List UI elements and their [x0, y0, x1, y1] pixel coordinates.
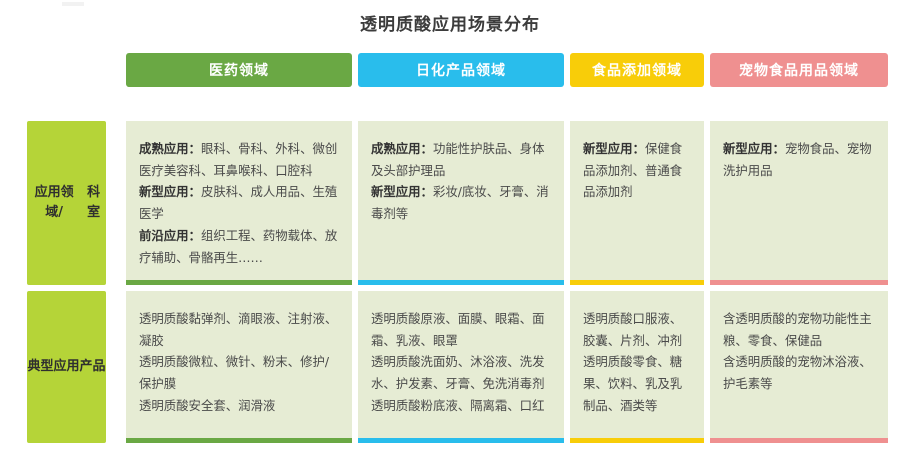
accent-bar-pet	[710, 438, 888, 443]
row-label-line: 应用领域/	[27, 183, 81, 223]
cell-line-label: 前沿应用：	[139, 228, 201, 243]
cell-line-text: 透明质酸原液、面膜、眼霜、面霜、乳液、眼罩	[371, 311, 544, 348]
accent-bar-food_additive	[570, 280, 704, 285]
cell-line: 透明质酸微粒、微针、粉末、修护/保护膜	[139, 351, 339, 394]
cell-line: 含透明质酸的宠物功能性主粮、零食、保健品	[723, 308, 875, 351]
category-header-row: 医药领域日化产品领域食品添加领域宠物食品用品领域	[126, 53, 888, 87]
cell-application_field-food_additive: 新型应用：保健食品添加剂、普通食品添加剂	[570, 121, 704, 285]
cell-line: 透明质酸黏弹剂、滴眼液、注射液、凝胶	[139, 308, 339, 351]
row-label-line: 科室	[81, 183, 106, 223]
column-header-pet[interactable]: 宠物食品用品领域	[710, 53, 888, 87]
cell-line: 透明质酸洗面奶、沐浴液、洗发水、护发素、牙膏、免洗消毒剂	[371, 351, 551, 394]
page-title: 透明质酸应用场景分布	[0, 10, 900, 35]
cell-line: 含透明质酸的宠物沐浴液、护毛素等	[723, 351, 875, 394]
cell-line-text: 透明质酸洗面奶、沐浴液、洗发水、护发素、牙膏、免洗消毒剂	[371, 354, 544, 391]
cell-line-label: 新型应用：	[583, 141, 645, 156]
cell-typical_products-daily_chemical: 透明质酸原液、面膜、眼霜、面霜、乳液、眼罩透明质酸洗面奶、沐浴液、洗发水、护发素…	[358, 291, 564, 443]
accent-bar-daily_chemical	[358, 280, 564, 285]
cell-line-text: 含透明质酸的宠物功能性主粮、零食、保健品	[723, 311, 872, 348]
cell-line: 新型应用：保健食品添加剂、普通食品添加剂	[583, 138, 691, 203]
column-header-daily_chemical[interactable]: 日化产品领域	[358, 53, 564, 87]
cell-application_field-medical: 成熟应用：眼科、骨科、外科、微创医疗美容科、耳鼻喉科、口腔科新型应用：皮肤科、成…	[126, 121, 352, 285]
cell-application_field-pet: 新型应用：宠物食品、宠物洗护用品	[710, 121, 888, 285]
cell-line: 新型应用：皮肤科、成人用品、生殖医学	[139, 181, 339, 224]
cell-application_field-daily_chemical: 成熟应用：功能性护肤品、身体及头部护理品新型应用：彩妆/底妆、牙膏、消毒剂等	[358, 121, 564, 285]
cell-line-label: 新型应用：	[371, 184, 433, 199]
corner-mark	[62, 2, 84, 6]
cell-line-text: 透明质酸安全套、润滑液	[139, 398, 275, 413]
column-header-food_additive[interactable]: 食品添加领域	[570, 53, 704, 87]
cell-line-label: 成熟应用：	[371, 141, 433, 156]
accent-bar-medical	[126, 280, 352, 285]
cell-typical_products-medical: 透明质酸黏弹剂、滴眼液、注射液、凝胶透明质酸微粒、微针、粉末、修护/保护膜透明质…	[126, 291, 352, 443]
cell-line-text: 透明质酸微粒、微针、粉末、修护/保护膜	[139, 354, 329, 391]
infographic-root: 透明质酸应用场景分布 医药领域日化产品领域食品添加领域宠物食品用品领域 应用领域…	[0, 0, 900, 465]
accent-bar-medical	[126, 438, 352, 443]
accent-bar-pet	[710, 280, 888, 285]
row-label-line: 应用产品	[54, 357, 106, 377]
cell-line: 新型应用：宠物食品、宠物洗护用品	[723, 138, 875, 181]
cell-line: 新型应用：彩妆/底妆、牙膏、消毒剂等	[371, 181, 551, 224]
cell-line: 成熟应用：功能性护肤品、身体及头部护理品	[371, 138, 551, 181]
cell-line-text: 透明质酸零食、糖果、饮料、乳及乳制品、酒类等	[583, 354, 682, 412]
cell-line-label: 新型应用：	[723, 141, 785, 156]
cell-line: 前沿应用：组织工程、药物载体、放疗辅助、骨骼再生……	[139, 225, 339, 268]
cell-line-text: 透明质酸粉底液、隔离霜、口红	[371, 398, 544, 413]
cell-line: 透明质酸零食、糖果、饮料、乳及乳制品、酒类等	[583, 351, 691, 416]
cell-line-label: 新型应用：	[139, 184, 201, 199]
column-header-medical[interactable]: 医药领域	[126, 53, 352, 87]
cell-line: 透明质酸原液、面膜、眼霜、面霜、乳液、眼罩	[371, 308, 551, 351]
cell-typical_products-pet: 含透明质酸的宠物功能性主粮、零食、保健品含透明质酸的宠物沐浴液、护毛素等	[710, 291, 888, 443]
cell-line-text: 透明质酸口服液、胶囊、片剂、冲剂	[583, 311, 682, 348]
cell-line: 透明质酸口服液、胶囊、片剂、冲剂	[583, 308, 691, 351]
cell-line-text: 含透明质酸的宠物沐浴液、护毛素等	[723, 354, 872, 391]
row-label-application-field: 应用领域/科室	[27, 121, 106, 285]
cell-line: 成熟应用：眼科、骨科、外科、微创医疗美容科、耳鼻喉科、口腔科	[139, 138, 339, 181]
accent-bar-daily_chemical	[358, 438, 564, 443]
accent-bar-food_additive	[570, 438, 704, 443]
cell-typical_products-food_additive: 透明质酸口服液、胶囊、片剂、冲剂透明质酸零食、糖果、饮料、乳及乳制品、酒类等	[570, 291, 704, 443]
row-label-typical-products: 典型应用产品	[27, 291, 106, 443]
cell-line: 透明质酸安全套、润滑液	[139, 395, 339, 417]
cell-line: 透明质酸粉底液、隔离霜、口红	[371, 395, 551, 417]
row-label-line: 典型	[27, 357, 53, 377]
cell-line-label: 成熟应用：	[139, 141, 201, 156]
cell-line-text: 透明质酸黏弹剂、滴眼液、注射液、凝胶	[139, 311, 337, 348]
